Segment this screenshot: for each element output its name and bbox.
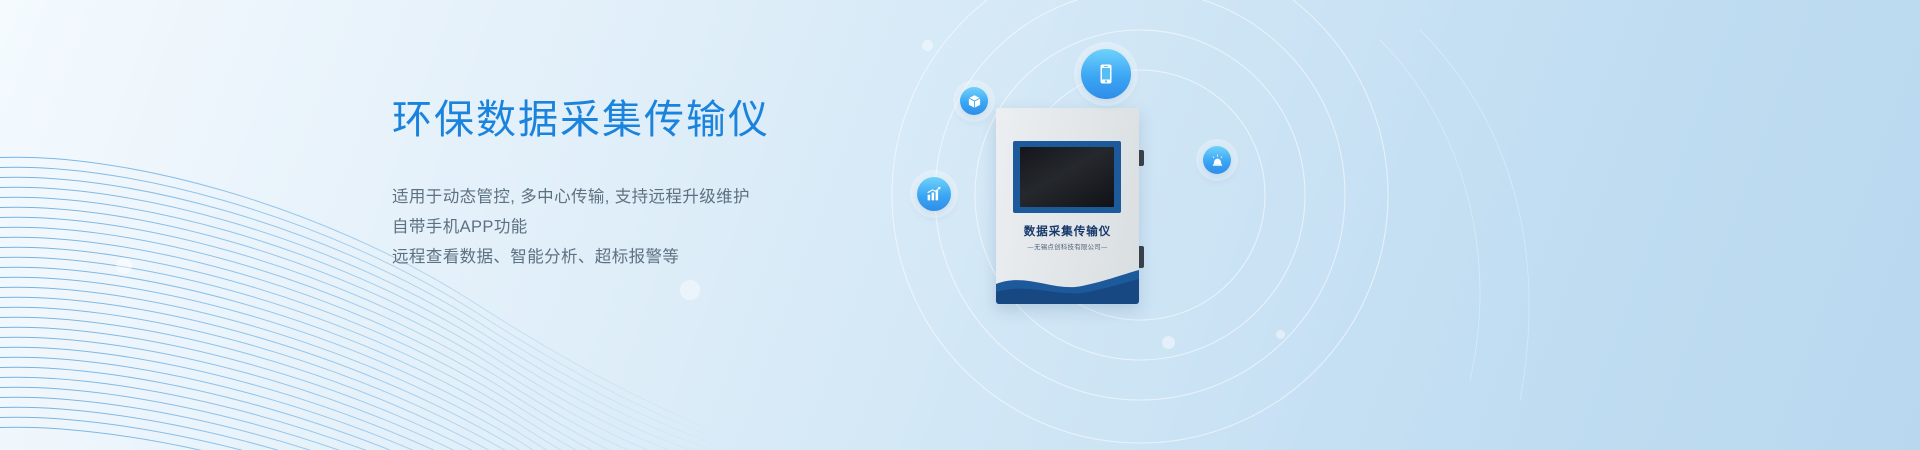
package-box-icon[interactable] — [960, 87, 988, 115]
bar-chart-icon[interactable] — [917, 177, 951, 211]
feature-list: 适用于动态管控, 多中心传输, 支持远程升级维护 自带手机APP功能 远程查看数… — [392, 182, 952, 272]
product-device: 数据采集传输仪 —无锡点创科技有限公司— — [996, 108, 1156, 308]
bokeh-dot — [922, 40, 933, 51]
page-title: 环保数据采集传输仪 — [392, 96, 952, 144]
bokeh-dot — [116, 258, 132, 274]
device-company-label: —无锡点创科技有限公司— — [996, 241, 1139, 251]
bokeh-dot — [1162, 336, 1175, 349]
decorative-wave-lines-left — [0, 0, 1920, 450]
list-item: 适用于动态管控, 多中心传输, 支持远程升级维护 — [392, 182, 952, 212]
list-item: 远程查看数据、智能分析、超标报警等 — [392, 242, 952, 272]
device-wave-graphic — [996, 270, 1139, 304]
list-item: 自带手机APP功能 — [392, 212, 952, 242]
bokeh-dot — [1276, 330, 1285, 339]
device-side-port-bottom — [1139, 246, 1144, 268]
banner-copy: 环保数据采集传输仪 适用于动态管控, 多中心传输, 支持远程升级维护 自带手机A… — [392, 96, 952, 272]
mobile-phone-icon[interactable] — [1081, 49, 1131, 99]
decorative-arcs-right — [0, 0, 1920, 450]
device-screen-bezel — [1013, 141, 1121, 213]
device-display — [1020, 147, 1114, 207]
device-side-port-top — [1139, 150, 1144, 166]
bokeh-dot — [680, 280, 700, 300]
device-brand-label: 数据采集传输仪 — [996, 223, 1139, 239]
alarm-siren-icon[interactable] — [1203, 146, 1231, 174]
hero-banner: 环保数据采集传输仪 适用于动态管控, 多中心传输, 支持远程升级维护 自带手机A… — [0, 0, 1920, 450]
device-enclosure: 数据采集传输仪 —无锡点创科技有限公司— — [996, 108, 1139, 304]
